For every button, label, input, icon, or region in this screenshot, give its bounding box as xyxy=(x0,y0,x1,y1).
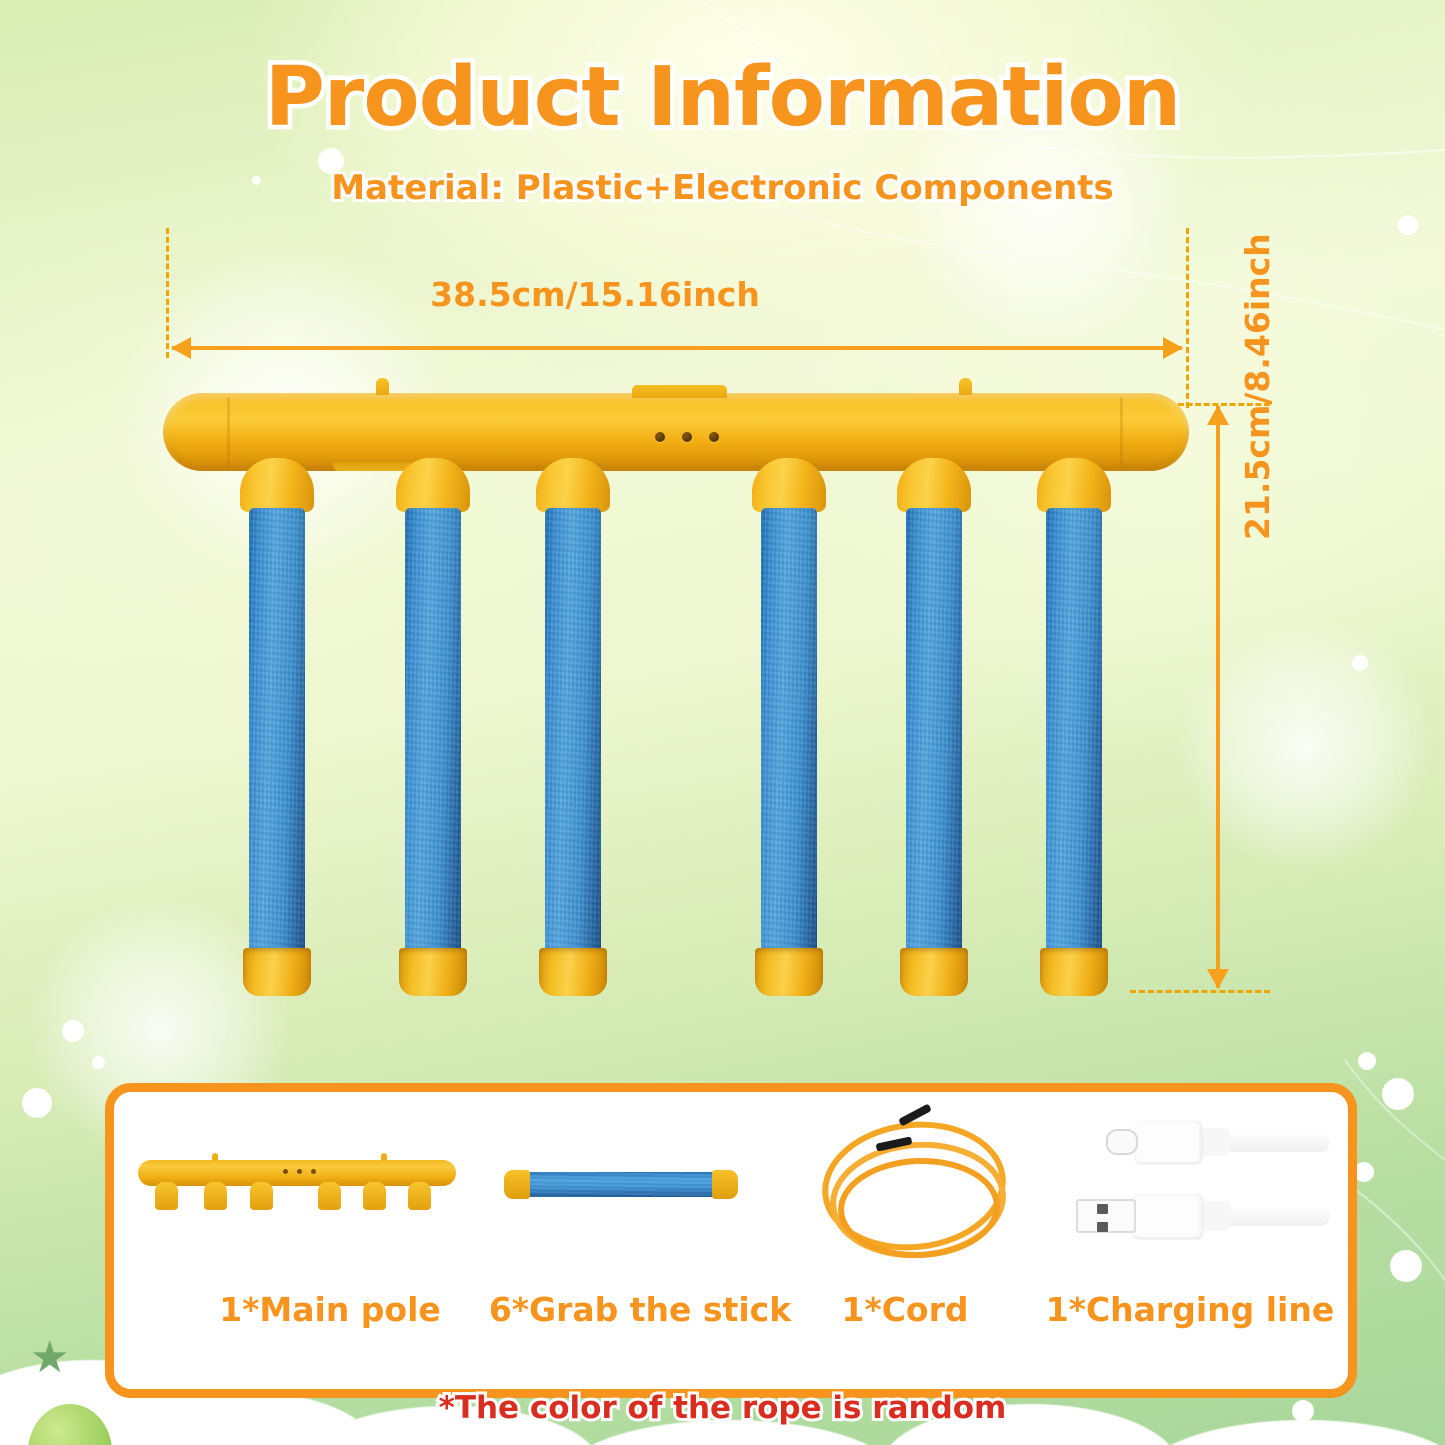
bubble-dot xyxy=(22,1088,52,1118)
bubble-dot xyxy=(1352,655,1368,671)
mini-pole-socket xyxy=(363,1182,386,1210)
bubble-dot xyxy=(62,1020,84,1042)
height-extension-line-bottom xyxy=(1130,990,1270,993)
mini-pole-socket xyxy=(318,1182,341,1210)
width-dimension-arrow xyxy=(172,346,1182,350)
indicator-hole xyxy=(655,432,665,442)
cable-wire-usbc xyxy=(1222,1132,1330,1152)
bubble-dot xyxy=(92,1056,105,1069)
mini-pole-nub xyxy=(381,1153,387,1161)
mini-pole-socket xyxy=(204,1182,227,1210)
package-item-label-grab-stick: 6*Grab the stick xyxy=(455,1290,825,1329)
mini-indicator-hole xyxy=(311,1169,316,1174)
stick-top-cap xyxy=(897,458,971,512)
stick-bottom-cap xyxy=(1040,948,1108,996)
usba-pin xyxy=(1097,1222,1108,1232)
page-title: Product Information xyxy=(0,50,1445,145)
usbc-strain-relief xyxy=(1200,1128,1230,1156)
star-icon: ★ xyxy=(30,1336,69,1380)
mini-indicator-holes xyxy=(283,1169,316,1174)
package-item-label-cord: 1*Cord xyxy=(790,1290,1020,1329)
cable-wire-usba xyxy=(1222,1206,1330,1226)
mini-stick-cap-left xyxy=(504,1170,530,1199)
rope-color-footnote: *The color of the rope is random xyxy=(0,1390,1445,1426)
stick-top-cap xyxy=(240,458,314,512)
mini-pole-nub xyxy=(212,1153,218,1161)
dimension-extension-line-right xyxy=(1186,228,1189,408)
stick-bottom-cap xyxy=(243,948,311,996)
pole-nub xyxy=(376,378,389,395)
stick-bottom-cap xyxy=(539,948,607,996)
stick-foam xyxy=(906,508,962,963)
stick-bottom-cap xyxy=(900,948,968,996)
stick-bottom-cap xyxy=(399,948,467,996)
height-dimension-label: 21.5cm/8.46inch xyxy=(1238,233,1277,540)
bubble-dot xyxy=(1382,1078,1414,1110)
pole-battery-tab xyxy=(632,385,727,398)
stick-top-cap xyxy=(536,458,610,512)
bubble-dot xyxy=(1390,1250,1422,1282)
usba-strain-relief xyxy=(1201,1201,1231,1231)
indicator-hole xyxy=(709,432,719,442)
bubble-dot xyxy=(1398,215,1418,235)
bubble-dot xyxy=(1354,1162,1374,1182)
mini-indicator-hole xyxy=(297,1169,302,1174)
usbc-connector-tip xyxy=(1106,1129,1138,1155)
mini-stick-foam xyxy=(524,1172,716,1197)
mini-pole-socket xyxy=(155,1182,178,1210)
stick-foam xyxy=(405,508,461,963)
material-subtitle: Material: Plastic+Electronic Components xyxy=(0,168,1445,208)
usba-pin xyxy=(1097,1204,1108,1214)
indicator-hole xyxy=(682,432,692,442)
mini-pole-socket xyxy=(250,1182,273,1210)
mini-indicator-hole xyxy=(283,1169,288,1174)
mini-stick-cap-right xyxy=(712,1170,738,1199)
pole-slot xyxy=(333,462,411,471)
usbc-connector-body xyxy=(1136,1121,1202,1163)
pole-seam xyxy=(1120,397,1123,467)
indicator-light-holes xyxy=(655,432,719,442)
stick-foam xyxy=(249,508,305,963)
product-information-page: ★ Product Information Material: Plastic+… xyxy=(0,0,1445,1445)
stick-top-cap xyxy=(1037,458,1111,512)
stick-foam xyxy=(1046,508,1102,963)
stick-foam xyxy=(761,508,817,963)
height-dimension-arrow xyxy=(1216,406,1220,988)
width-dimension-label: 38.5cm/15.16inch xyxy=(0,275,1190,314)
bubble-dot xyxy=(1358,1052,1376,1070)
stick-foam xyxy=(545,508,601,963)
stick-top-cap xyxy=(396,458,470,512)
stick-top-cap xyxy=(752,458,826,512)
package-item-label-charging-line: 1*Charging line xyxy=(1020,1290,1360,1329)
pole-nub xyxy=(959,378,972,395)
pole-seam xyxy=(227,397,230,467)
mini-pole-socket xyxy=(408,1182,431,1210)
usba-connector-body xyxy=(1133,1194,1203,1238)
stick-bottom-cap xyxy=(755,948,823,996)
